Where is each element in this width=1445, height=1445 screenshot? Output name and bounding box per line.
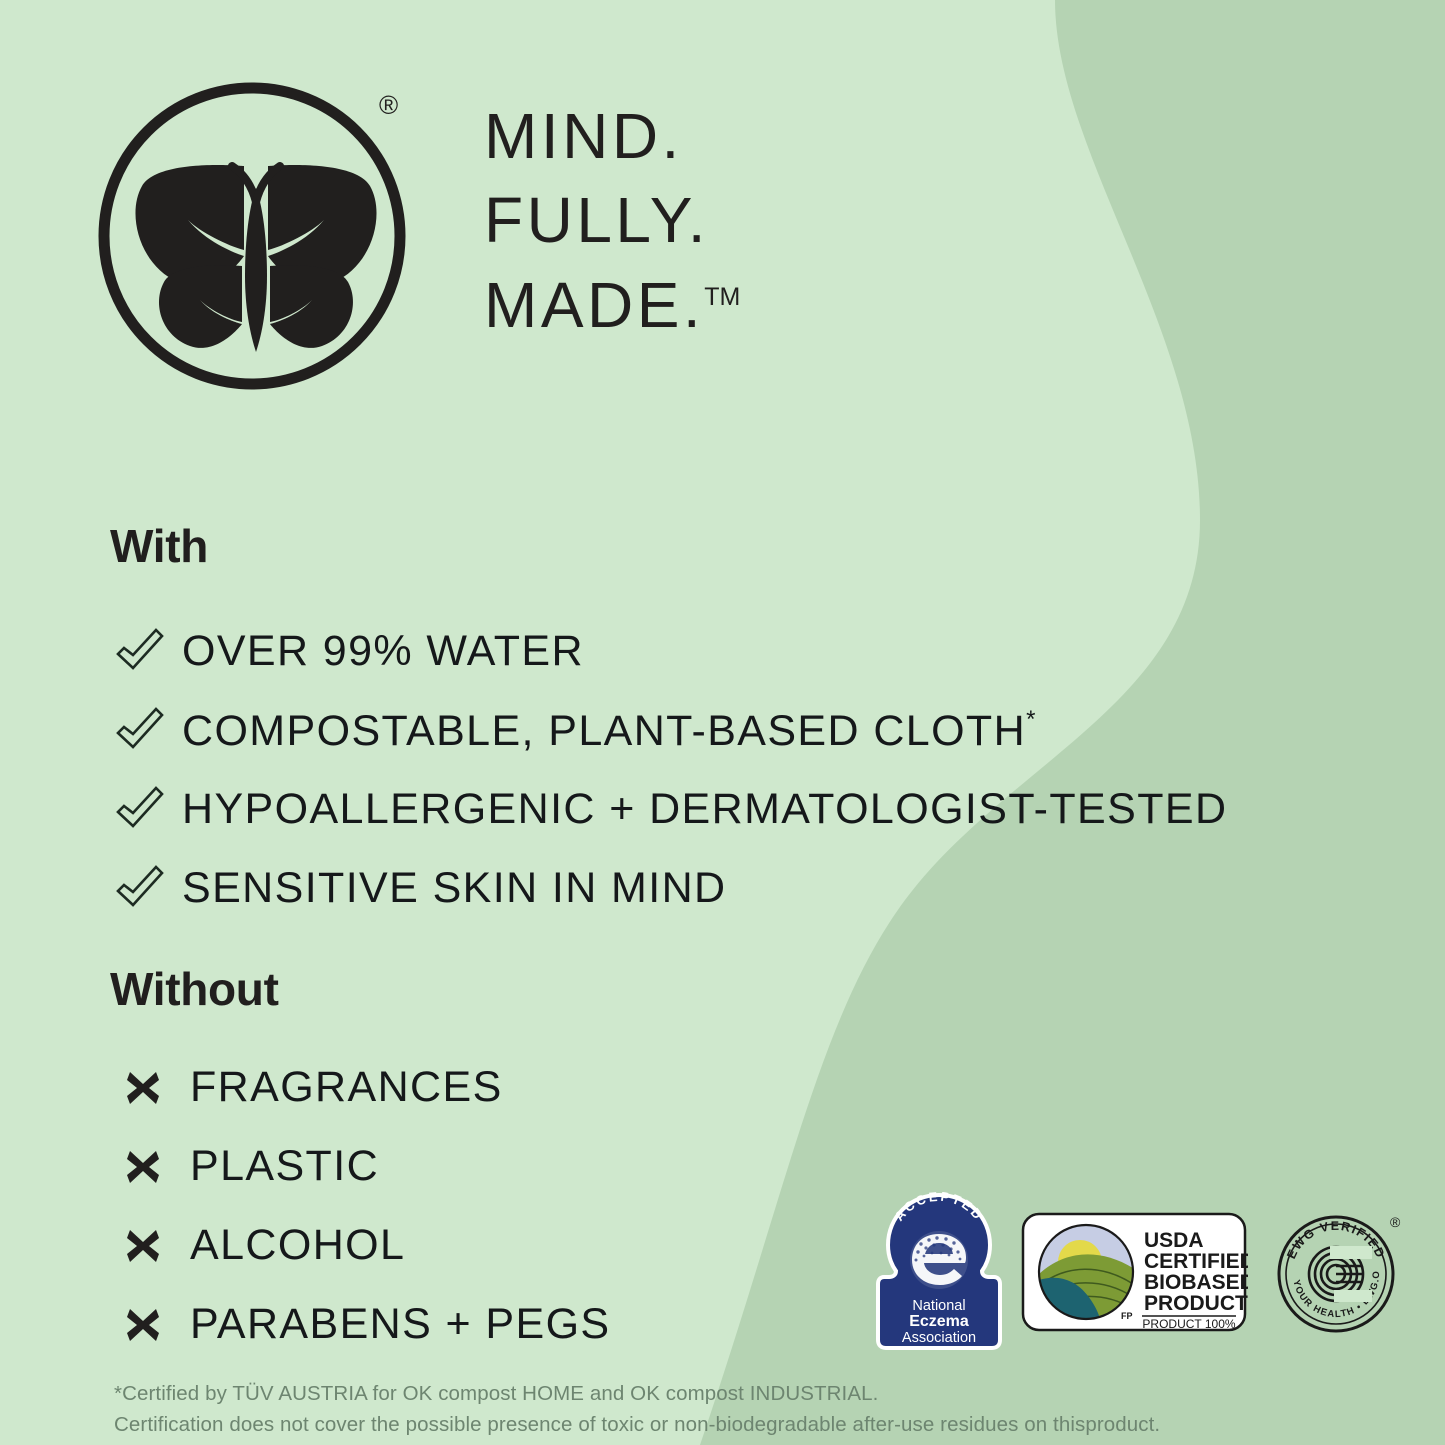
nea-line-2: Eczema bbox=[909, 1313, 969, 1330]
cross-icon bbox=[118, 1063, 168, 1113]
cross-icon bbox=[118, 1142, 168, 1192]
with-list-item: OVER 99% WATER bbox=[112, 612, 1227, 691]
wordmark-line-3-text: MADE. bbox=[484, 269, 704, 341]
brand-logo-lockup: ® MIND. FULLY. MADE.TM bbox=[92, 70, 740, 400]
wordmark-line-1: MIND. bbox=[484, 94, 740, 178]
check-outline-icon bbox=[112, 861, 168, 917]
nea-line-1: National bbox=[912, 1298, 965, 1314]
cross-icon bbox=[118, 1300, 168, 1350]
cross-icon bbox=[118, 1221, 168, 1271]
with-list-item: COMPOSTABLE, PLANT-BASED CLOTH* bbox=[112, 691, 1227, 770]
wordmark-line-3: MADE.TM bbox=[484, 263, 740, 347]
butterfly-in-circle-logo: ® bbox=[92, 70, 422, 400]
nea-line-3: Association bbox=[902, 1330, 976, 1346]
butterfly-icon bbox=[92, 70, 422, 400]
without-list-item: FRAGRANCES bbox=[112, 1048, 611, 1127]
ewg-verified-badge: EWG VERIFIED FOR YOUR HEALTH • EWG.ORG ® bbox=[1270, 1204, 1406, 1340]
usda-line-3: BIOBASED bbox=[1144, 1271, 1248, 1294]
without-item-label: ALCOHOL bbox=[190, 1221, 405, 1270]
without-list-item: PARABENS + PEGS bbox=[112, 1285, 611, 1364]
product-claims-infographic: ® MIND. FULLY. MADE.TM With OVER 99% WAT… bbox=[0, 0, 1445, 1445]
usda-line-1: USDA bbox=[1144, 1229, 1204, 1252]
with-item-label-wrapper: COMPOSTABLE, PLANT-BASED CLOTH* bbox=[182, 706, 1037, 756]
with-item-label: COMPOSTABLE, PLANT-BASED CLOTH bbox=[182, 707, 1026, 755]
national-eczema-association-badge: ACCEPTED National Eczema Association bbox=[872, 1192, 1006, 1352]
with-item-label: SENSITIVE SKIN IN MIND bbox=[182, 864, 727, 913]
usda-subline: PRODUCT 100% bbox=[1142, 1317, 1235, 1331]
without-claims-list: FRAGRANCES PLASTIC ALCOHOL bbox=[112, 1048, 611, 1364]
with-list-item: SENSITIVE SKIN IN MIND bbox=[112, 849, 1227, 928]
with-list-item: HYPOALLERGENIC + DERMATOLOGIST-TESTED bbox=[112, 770, 1227, 849]
check-outline-icon bbox=[112, 782, 168, 838]
with-item-label: HYPOALLERGENIC + DERMATOLOGIST-TESTED bbox=[182, 785, 1227, 834]
usda-certified-biobased-product-badge: FP USDA CERTIFIED BIOBASED PRODUCT PRODU… bbox=[1020, 1202, 1248, 1342]
ewg-registered-mark-icon: ® bbox=[1390, 1214, 1401, 1230]
with-section-heading: With bbox=[110, 519, 208, 573]
without-list-item: ALCOHOL bbox=[112, 1206, 611, 1285]
without-item-label: PLASTIC bbox=[190, 1142, 379, 1191]
registered-trademark-icon: ® bbox=[379, 92, 398, 118]
check-outline-icon bbox=[112, 703, 168, 759]
without-item-label: FRAGRANCES bbox=[190, 1063, 503, 1112]
usda-line-2: CERTIFIED bbox=[1144, 1250, 1248, 1273]
wordmark-line-2: FULLY. bbox=[484, 178, 740, 262]
footnote-line-1: *Certified by TÜV AUSTRIA for OK compost… bbox=[114, 1378, 1324, 1409]
with-item-label: OVER 99% WATER bbox=[182, 627, 584, 676]
check-outline-icon bbox=[112, 624, 168, 680]
footnote-line-2: Certification does not cover the possibl… bbox=[114, 1409, 1324, 1440]
without-list-item: PLASTIC bbox=[112, 1127, 611, 1206]
footnote: *Certified by TÜV AUSTRIA for OK compost… bbox=[114, 1378, 1324, 1440]
without-section-heading: Without bbox=[110, 962, 279, 1016]
usda-corner-mark: FP bbox=[1121, 1311, 1133, 1321]
usda-line-4: PRODUCT bbox=[1144, 1292, 1248, 1315]
footnote-marker: * bbox=[1026, 706, 1037, 733]
wordmark: MIND. FULLY. MADE.TM bbox=[484, 94, 740, 347]
with-claims-list: OVER 99% WATER COMPOSTABLE, PLANT-BASED … bbox=[112, 612, 1227, 928]
trademark-icon: TM bbox=[704, 283, 740, 311]
without-item-label: PARABENS + PEGS bbox=[190, 1300, 611, 1349]
certification-badges: ACCEPTED National Eczema Association bbox=[872, 1192, 1406, 1352]
